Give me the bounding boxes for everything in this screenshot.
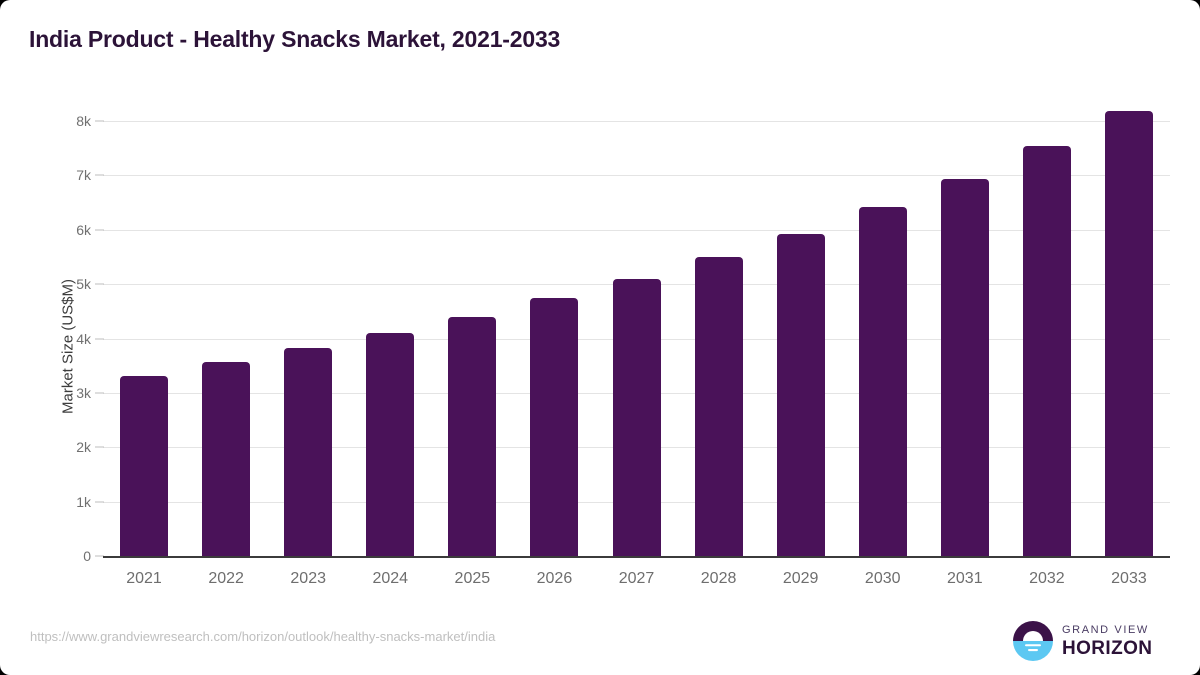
bar-2025[interactable] (448, 317, 496, 556)
x-axis-tick-label: 2028 (679, 570, 759, 588)
gridline (103, 175, 1170, 176)
bar-2031[interactable] (941, 179, 989, 556)
plot-area (103, 121, 1170, 556)
brand-logo[interactable]: GRAND VIEW HORIZON (1013, 618, 1173, 664)
page-title: India Product - Healthy Snacks Market, 2… (29, 26, 560, 53)
bar-2024[interactable] (366, 333, 414, 556)
bar-2033[interactable] (1105, 111, 1153, 556)
chart-card: India Product - Healthy Snacks Market, 2… (0, 0, 1200, 675)
bar-2028[interactable] (695, 257, 743, 556)
bar-2026[interactable] (530, 298, 578, 556)
bar-2023[interactable] (284, 348, 332, 556)
x-axis-tick-label: 2030 (843, 570, 923, 588)
x-axis-line (103, 556, 1170, 558)
bar-2022[interactable] (202, 362, 250, 556)
grand-view-horizon-logo-mark-icon (1013, 621, 1053, 661)
x-axis-tick-label: 2031 (925, 570, 1005, 588)
x-axis-tick-label: 2032 (1007, 570, 1087, 588)
x-axis-tick-label: 2024 (350, 570, 430, 588)
x-axis-tick-label: 2027 (597, 570, 677, 588)
x-axis-tick-label: 2025 (432, 570, 512, 588)
bar-2027[interactable] (613, 279, 661, 556)
bar-2029[interactable] (777, 234, 825, 556)
bar-2032[interactable] (1023, 146, 1071, 556)
x-axis-tick-label: 2023 (268, 570, 348, 588)
x-axis-tick-label: 2026 (514, 570, 594, 588)
logo-text: GRAND VIEW HORIZON (1062, 625, 1152, 658)
gridline (103, 230, 1170, 231)
x-axis-tick-label: 2029 (761, 570, 841, 588)
source-url[interactable]: https://www.grandviewresearch.com/horizo… (30, 629, 495, 644)
gridline (103, 121, 1170, 122)
bar-2030[interactable] (859, 207, 907, 556)
y-axis-tick-label: 0 (0, 548, 91, 564)
y-axis-tick-label: 8k (0, 113, 91, 129)
y-axis-title-container: Market Size (US$M) (38, 138, 58, 538)
x-axis-tick-label: 2022 (186, 570, 266, 588)
x-axis-tick-label: 2021 (104, 570, 184, 588)
logo-text-bottom: HORIZON (1062, 639, 1152, 658)
x-axis-tick-label: 2033 (1089, 570, 1169, 588)
logo-text-top: GRAND VIEW (1062, 625, 1152, 636)
y-axis-title: Market Size (US$M) (60, 147, 77, 547)
bar-2021[interactable] (120, 376, 168, 556)
